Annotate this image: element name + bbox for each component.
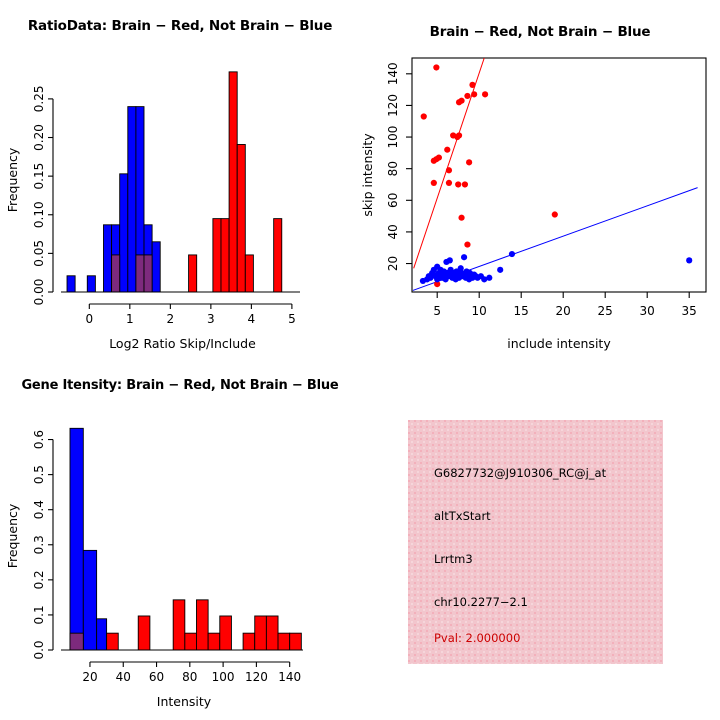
histogram-bar-brain — [213, 219, 221, 292]
scatter-point — [455, 181, 461, 187]
histogram-bar-brain — [245, 255, 253, 292]
locus-label: chr10.2277−2.1 — [434, 595, 528, 609]
y-tick-label: 80 — [386, 161, 400, 176]
y-tick-label: 60 — [386, 193, 400, 208]
x-axis-label: Intensity — [157, 694, 212, 709]
histogram-bar-brain — [221, 219, 229, 292]
x-tick-label: 20 — [82, 670, 97, 684]
y-tick-label: 0.05 — [32, 240, 46, 267]
scatter-point — [509, 251, 515, 257]
histogram-bar-not-brain — [97, 619, 107, 650]
plot-frame — [412, 58, 706, 292]
histogram-bar-brain — [185, 633, 197, 650]
histogram-bar-not-brain — [152, 242, 160, 292]
histogram-bar-not-brain — [128, 107, 136, 292]
probe-id-label: G6827732@J910306_RC@j_at — [434, 466, 606, 480]
y-axis-label: Frequency — [5, 503, 20, 568]
x-tick-label: 10 — [472, 304, 487, 318]
histogram-bar-brain — [208, 633, 220, 650]
scatter-point — [464, 241, 470, 247]
x-tick-label: 0 — [85, 312, 93, 326]
y-axis-label: skip intensity — [360, 133, 375, 217]
scatter-point — [466, 159, 472, 165]
y-axis-label: Frequency — [5, 147, 20, 212]
intensity-scatter-svg: 510152025303520406080100120140include in… — [360, 0, 720, 360]
scatter-point — [552, 211, 558, 217]
scatter-point — [471, 91, 477, 97]
x-tick-label: 15 — [514, 304, 529, 318]
x-tick-label: 35 — [682, 304, 697, 318]
x-tick-label: 1 — [126, 312, 134, 326]
x-tick-label: 30 — [640, 304, 655, 318]
y-tick-label: 140 — [386, 62, 400, 85]
y-tick-label: 0.6 — [32, 430, 46, 449]
intensity-scatter-panel: Brain − Red, Not Brain − Blue 5101520253… — [360, 0, 720, 360]
scatter-point — [431, 180, 437, 186]
scatter-point — [433, 64, 439, 70]
plot-content — [413, 58, 698, 290]
histogram-bar-overlap — [136, 255, 144, 292]
scatter-point — [447, 257, 453, 263]
x-tick-label: 60 — [149, 670, 164, 684]
histogram-bar-brain — [138, 616, 150, 650]
scatter-point — [461, 254, 467, 260]
histogram-bar-brain — [237, 144, 245, 292]
scatter-point — [458, 98, 464, 104]
ratio-histogram-svg: 0123450.000.050.100.150.200.25Log2 Ratio… — [0, 0, 360, 360]
histogram-bar-not-brain — [120, 174, 128, 292]
histogram-bar-brain — [266, 616, 278, 650]
y-tick-label: 0.00 — [32, 279, 46, 306]
y-tick-label: 0.0 — [32, 640, 46, 659]
x-tick-label: 5 — [288, 312, 296, 326]
histogram-bar-not-brain — [103, 225, 111, 292]
histogram-bar-not-brain — [70, 428, 83, 650]
y-tick-label: 120 — [386, 94, 400, 117]
y-tick-label: 0.5 — [32, 465, 46, 484]
y-tick-label: 0.10 — [32, 201, 46, 228]
gene-intensity-panel: Gene Itensity: Brain − Red, Not Brain − … — [0, 360, 360, 720]
regression-line-brain-fit — [414, 58, 485, 268]
event-type-label: altTxStart — [434, 509, 491, 523]
y-tick-label: 0.15 — [32, 163, 46, 190]
x-tick-label: 25 — [598, 304, 613, 318]
scatter-point — [462, 181, 468, 187]
scatter-point — [421, 113, 427, 119]
histogram-bar-brain — [229, 72, 237, 292]
x-axis-label: Log2 Ratio Skip/Include — [109, 336, 256, 351]
y-tick-label: 0.4 — [32, 500, 46, 519]
histogram-bar-brain — [274, 219, 282, 292]
histogram-bar-brain — [189, 255, 197, 292]
x-tick-label: 2 — [167, 312, 175, 326]
scatter-point — [482, 91, 488, 97]
y-tick-label: 0.20 — [32, 124, 46, 151]
scatter-point — [436, 155, 442, 161]
histogram-bar-not-brain — [87, 276, 95, 292]
scatter-point — [464, 93, 470, 99]
histogram-bar-brain — [243, 633, 255, 650]
ratio-histogram-panel: RatioData: Brain − Red, Not Brain − Blue… — [0, 0, 360, 360]
scatter-point — [486, 275, 492, 281]
histogram-bar-brain — [107, 633, 119, 650]
scatter-point — [497, 267, 503, 273]
scatter-point — [458, 215, 464, 221]
histogram-bar-brain — [278, 633, 290, 650]
x-tick-label: 3 — [207, 312, 215, 326]
scatter-point — [446, 167, 452, 173]
x-tick-label: 140 — [278, 670, 301, 684]
histogram-bar-brain — [220, 616, 232, 650]
gene-symbol-label: Lrrtm3 — [434, 552, 473, 566]
x-tick-label: 4 — [248, 312, 256, 326]
scatter-point — [446, 180, 452, 186]
scatter-point — [469, 82, 475, 88]
y-tick-label: 40 — [386, 224, 400, 239]
y-tick-label: 0.25 — [32, 86, 46, 113]
y-tick-label: 0.2 — [32, 570, 46, 589]
histogram-bar-overlap — [144, 255, 152, 292]
histogram-bar-brain — [290, 633, 302, 650]
histogram-bar-not-brain — [83, 550, 96, 650]
x-tick-label: 120 — [245, 670, 268, 684]
histogram-bar-not-brain — [67, 276, 75, 292]
x-axis-label: include intensity — [507, 336, 611, 351]
gene-intensity-svg: 204060801001201400.00.10.20.30.40.50.6In… — [0, 360, 360, 720]
x-tick-label: 40 — [116, 670, 131, 684]
scatter-point — [456, 132, 462, 138]
histogram-bar-brain — [255, 616, 267, 650]
scatter-point — [686, 257, 692, 263]
y-tick-label: 0.1 — [32, 605, 46, 624]
y-tick-label: 20 — [386, 256, 400, 271]
gene-info-panel: G6827732@J910306_RC@j_at altTxStart Lrrt… — [360, 360, 720, 720]
scatter-point — [444, 147, 450, 153]
x-tick-label: 20 — [556, 304, 571, 318]
pval-label: Pval: 2.000000 — [434, 631, 520, 645]
histogram-bar-brain — [196, 600, 208, 650]
y-tick-label: 0.3 — [32, 535, 46, 554]
y-tick-label: 100 — [386, 126, 400, 149]
gene-info-box: G6827732@J910306_RC@j_at altTxStart Lrrt… — [408, 420, 663, 664]
x-tick-label: 80 — [182, 670, 197, 684]
histogram-bar-overlap — [112, 255, 120, 292]
x-tick-label: 100 — [212, 670, 235, 684]
histogram-bar-overlap — [70, 633, 83, 650]
histogram-bar-brain — [173, 600, 185, 650]
x-tick-label: 5 — [433, 304, 441, 318]
